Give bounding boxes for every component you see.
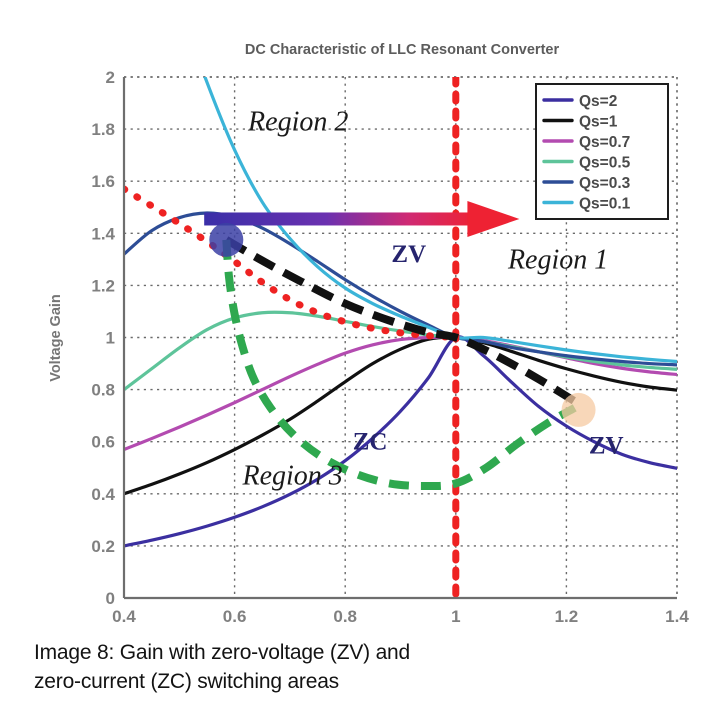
operating-point-marker-blue — [209, 223, 243, 257]
caption-line-2: zero-current (ZC) switching areas — [34, 667, 684, 696]
y-tick-label: 0.6 — [91, 433, 115, 452]
y-tick-label: 2 — [106, 68, 115, 87]
x-tick-label: 0.6 — [223, 607, 247, 626]
figure-image-8: DC Characteristic of LLC Resonant Conver… — [0, 0, 715, 630]
frequency-trend-arrow-shaft — [204, 212, 475, 225]
x-tick-label: 1.2 — [555, 607, 579, 626]
chart-legend[interactable]: Qs=2Qs=1Qs=0.7Qs=0.5Qs=0.3Qs=0.1 — [536, 84, 668, 219]
y-tick-label: 0 — [106, 589, 115, 608]
x-tick-label: 1 — [451, 607, 460, 626]
legend-label-qs-0-5[interactable]: Qs=0.5 — [579, 155, 631, 172]
y-tick-label: 0.8 — [91, 381, 115, 400]
y-tick-label: 0.2 — [91, 537, 115, 556]
chart-title: DC Characteristic of LLC Resonant Conver… — [245, 42, 560, 58]
annotation-region-2: Region 2 — [247, 106, 348, 137]
caption-line-1: Image 8: Gain with zero-voltage (ZV) and — [34, 638, 684, 667]
legend-label-qs-2[interactable]: Qs=2 — [579, 93, 617, 110]
y-axis-title: Voltage Gain — [48, 294, 64, 382]
legend-label-qs-0-7[interactable]: Qs=0.7 — [579, 134, 630, 151]
x-tick-label: 1.4 — [665, 607, 689, 626]
y-tick-label: 1.6 — [91, 172, 115, 191]
figure-caption: Image 8: Gain with zero-voltage (ZV) and… — [34, 638, 684, 696]
dc-characteristic-chart: DC Characteristic of LLC Resonant Conver… — [0, 0, 715, 630]
legend-label-qs-1[interactable]: Qs=1 — [579, 114, 618, 131]
annotation-zv-lower: ZV — [589, 432, 624, 459]
legend-label-qs-0-1[interactable]: Qs=0.1 — [579, 196, 631, 213]
y-tick-label: 1.8 — [91, 120, 115, 139]
annotation-region-1: Region 1 — [507, 244, 608, 275]
operating-point-marker-peach — [562, 393, 596, 427]
y-tick-label: 1.2 — [91, 276, 115, 295]
annotation-zc-label: ZC — [353, 429, 388, 456]
annotation-region-3: Region 3 — [242, 461, 343, 492]
x-tick-label: 0.4 — [112, 607, 136, 626]
annotation-zv-upper: ZV — [391, 241, 426, 268]
x-tick-label: 0.8 — [333, 607, 357, 626]
y-tick-label: 1.4 — [91, 224, 115, 243]
legend-label-qs-0-3[interactable]: Qs=0.3 — [579, 175, 631, 192]
y-tick-label: 0.4 — [91, 485, 115, 504]
y-tick-label: 1 — [106, 329, 115, 348]
